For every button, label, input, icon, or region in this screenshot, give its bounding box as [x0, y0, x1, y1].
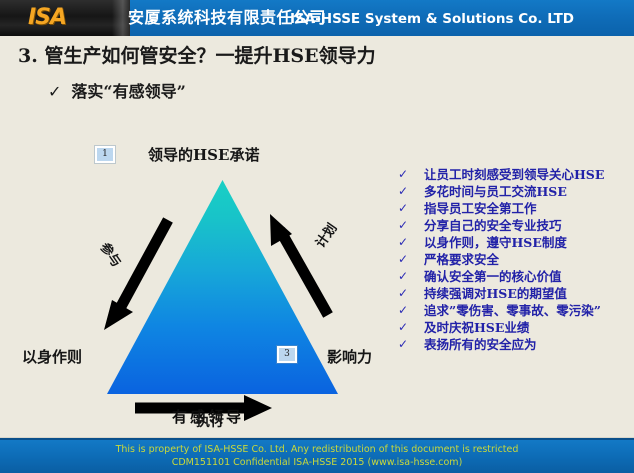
- page-subtitle-text: 落实“有感领导”: [71, 82, 185, 101]
- page-subtitle: ✓落实“有感领导”: [48, 78, 186, 102]
- slide-header: ISA 安厦系统科技有限责任公司 ISA-HSSE System & Solut…: [0, 0, 634, 36]
- slide-canvas: ISA 安厦系统科技有限责任公司 ISA-HSSE System & Solut…: [0, 0, 634, 473]
- check-icon: ✓: [398, 286, 424, 301]
- check-icon: ✓: [398, 269, 424, 284]
- diagram-label-bottom: 执行: [196, 411, 224, 431]
- list-item: ✓ 持续强调对HSE的期望值: [398, 286, 634, 301]
- list-item-label: 指导员工安全第工作: [424, 201, 634, 216]
- list-item-label: 及时庆祝HSE业绩: [424, 320, 634, 335]
- list-item: ✓ 确认安全第一的核心价值: [398, 269, 634, 284]
- list-item: ✓ 分享自己的安全专业技巧: [398, 218, 634, 233]
- check-icon: ✓: [398, 337, 424, 352]
- check-icon: ✓: [398, 252, 424, 267]
- process-arrows: [0, 130, 400, 440]
- list-item-label: 表扬所有的安全应为: [424, 337, 634, 352]
- list-item-label: 持续强调对HSE的期望值: [424, 286, 634, 301]
- check-icon: ✓: [398, 184, 424, 199]
- bullet-list: ✓ 让员工时刻感受到领导关心HSE ✓ 多花时间与员工交流HSE ✓ 指导员工安…: [398, 167, 634, 354]
- check-icon: ✓: [398, 167, 424, 182]
- list-item: ✓ 严格要求安全: [398, 252, 634, 267]
- check-icon: ✓: [398, 201, 424, 216]
- list-item: ✓ 多花时间与员工交流HSE: [398, 184, 634, 199]
- leadership-triangle-diagram: 有感领导 应负的HSE职责 领导的HSE承诺 以身作则 影响力 执行 参与 计划: [0, 130, 400, 440]
- diagram-label-top: 领导的HSE承诺: [148, 144, 259, 165]
- list-item-label: 让员工时刻感受到领导关心HSE: [424, 167, 634, 182]
- check-icon: ✓: [398, 320, 424, 335]
- page-title: 3. 管生产如何管安全？一提升HSE领导力: [18, 41, 376, 68]
- list-item-label: 分享自己的安全专业技巧: [424, 218, 634, 233]
- list-item: ✓ 追求”零伤害、零事故、零污染”: [398, 303, 634, 318]
- callout-marker-3[interactable]: 3: [277, 346, 297, 363]
- callout-marker-1[interactable]: 1: [95, 146, 115, 163]
- footer-line-1: This is property of ISA-HSSE Co. Ltd. An…: [0, 444, 634, 456]
- list-item: ✓ 表扬所有的安全应为: [398, 337, 634, 352]
- arrow-left-down: [104, 220, 168, 330]
- list-item-label: 严格要求安全: [424, 252, 634, 267]
- footer-line-2: CDM151101 Confidential ISA-HSSE 2015 (ww…: [0, 457, 634, 469]
- list-item-label: 以身作则，遵守HSE制度: [424, 235, 634, 250]
- list-item: ✓ 及时庆祝HSE业绩: [398, 320, 634, 335]
- list-item: ✓ 让员工时刻感受到领导关心HSE: [398, 167, 634, 182]
- diagram-label-right: 影响力: [327, 346, 372, 367]
- diagram-label-left: 以身作则: [22, 346, 82, 367]
- check-icon: ✓: [398, 218, 424, 233]
- list-item-label: 追求”零伤害、零事故、零污染”: [424, 303, 634, 318]
- list-item-label: 多花时间与员工交流HSE: [424, 184, 634, 199]
- slide-footer: This is property of ISA-HSSE Co. Ltd. An…: [0, 438, 634, 473]
- list-item: ✓ 以身作则，遵守HSE制度: [398, 235, 634, 250]
- isa-logo: ISA: [28, 6, 112, 30]
- check-icon: ✓: [398, 235, 424, 250]
- company-name-en: ISA-HSSE System & Solutions Co. LTD: [290, 8, 574, 30]
- list-item: ✓ 指导员工安全第工作: [398, 201, 634, 216]
- check-icon: ✓: [48, 82, 61, 101]
- list-item-label: 确认安全第一的核心价值: [424, 269, 634, 284]
- check-icon: ✓: [398, 303, 424, 318]
